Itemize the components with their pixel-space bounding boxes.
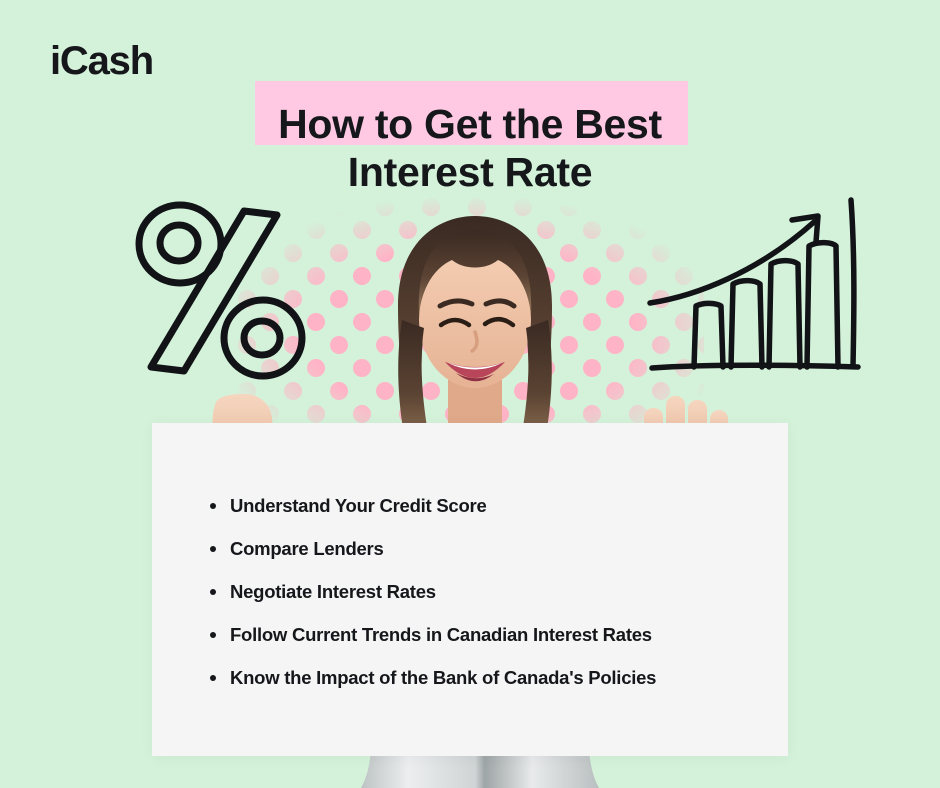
bullet-list: Understand Your Credit Score Compare Len… xyxy=(200,495,760,710)
brand-logo: iCash xyxy=(50,41,153,81)
page-title-line-2: Interest Rate xyxy=(0,148,940,196)
list-item: Follow Current Trends in Canadian Intere… xyxy=(200,624,760,646)
white-board: Understand Your Credit Score Compare Len… xyxy=(152,423,788,756)
person-photo xyxy=(330,210,620,455)
title-block: How to Get the Best Interest Rate xyxy=(0,81,940,196)
list-item: Negotiate Interest Rates xyxy=(200,581,760,603)
bar-chart-icon xyxy=(646,196,866,388)
list-item: Know the Impact of the Bank of Canada's … xyxy=(200,667,760,689)
poster-canvas: iCash How to Get the Best Interest Rate xyxy=(0,0,940,788)
list-item: Compare Lenders xyxy=(200,538,760,560)
page-title-line-1: How to Get the Best xyxy=(0,100,940,148)
list-item: Understand Your Credit Score xyxy=(200,495,760,517)
page-title: How to Get the Best Interest Rate xyxy=(0,81,940,196)
percent-sign-icon xyxy=(124,196,334,394)
